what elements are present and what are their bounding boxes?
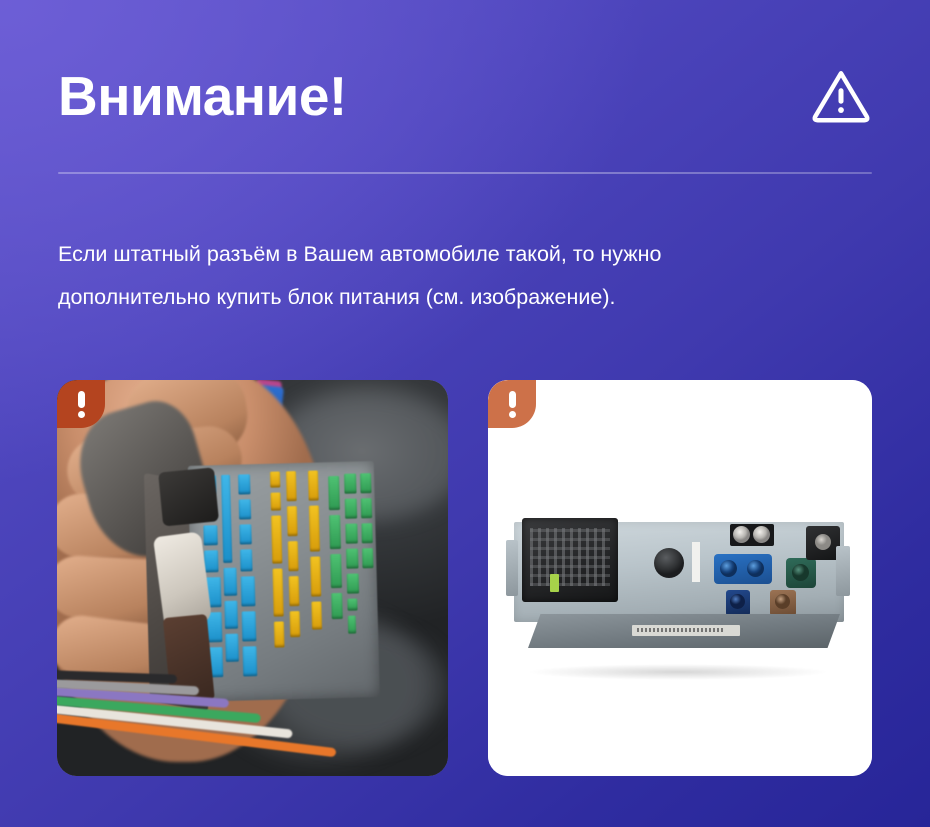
header-divider: [58, 172, 872, 174]
pin-column-green-3: [360, 473, 373, 568]
pin-column-green-2: [344, 473, 360, 633]
product-shadow: [528, 664, 828, 680]
page-header: Внимание!: [58, 48, 872, 144]
page-title: Внимание!: [58, 69, 347, 124]
power-supply-image: [488, 380, 872, 776]
unit-serial-label: [632, 625, 740, 636]
pin-column-green-1: [328, 476, 343, 619]
pin-column-yellow-2: [286, 471, 300, 637]
card-power-supply[interactable]: [488, 380, 872, 776]
antenna-socket: [806, 526, 840, 560]
wire-bundle: [57, 666, 367, 776]
power-supply-unit: [514, 522, 852, 654]
fakra-brown-port: [770, 590, 796, 616]
exclamation-badge: [57, 380, 105, 428]
image-gallery: [57, 380, 872, 776]
warning-triangle-icon: [810, 65, 872, 127]
main-harness-connector: [522, 518, 618, 602]
notice-text-line-2: дополнительно купить блок питания (см. и…: [58, 276, 872, 319]
exclamation-badge-icon: [509, 391, 516, 418]
notice-text: Если штатный разъём в Вашем автомобиле т…: [58, 233, 872, 319]
round-knob: [654, 548, 684, 578]
fakra-blue-port-b: [747, 560, 764, 577]
mount-tab-right: [836, 546, 850, 596]
green-fuse: [550, 574, 559, 592]
exclamation-badge: [488, 380, 536, 428]
fakra-blue-port-a: [720, 560, 737, 577]
pin-column-yellow-1: [270, 471, 285, 647]
rca-jack-right: [753, 526, 770, 543]
warning-notice-page: Внимание! Если штатный разъём в Вашем ав…: [0, 0, 930, 827]
unit-chassis: [514, 522, 844, 622]
vertical-label: [692, 542, 700, 582]
exclamation-badge-icon: [78, 391, 85, 418]
connector-black-cap: [158, 467, 219, 526]
mount-tab-left: [506, 540, 518, 596]
fakra-blue-pair: [714, 554, 772, 584]
pin-column-blue-2: [221, 475, 239, 662]
car-connector-image: [57, 380, 448, 776]
rca-connector-pair: [730, 524, 774, 546]
pin-column-yellow-3: [308, 470, 322, 629]
notice-text-line-1: Если штатный разъём в Вашем автомобиле т…: [58, 233, 872, 276]
fakra-navy-port: [726, 590, 750, 616]
rca-jack-left: [733, 526, 750, 543]
pin-column-blue-3: [238, 474, 257, 676]
card-car-connector[interactable]: [57, 380, 448, 776]
fakra-green-port: [786, 558, 816, 588]
